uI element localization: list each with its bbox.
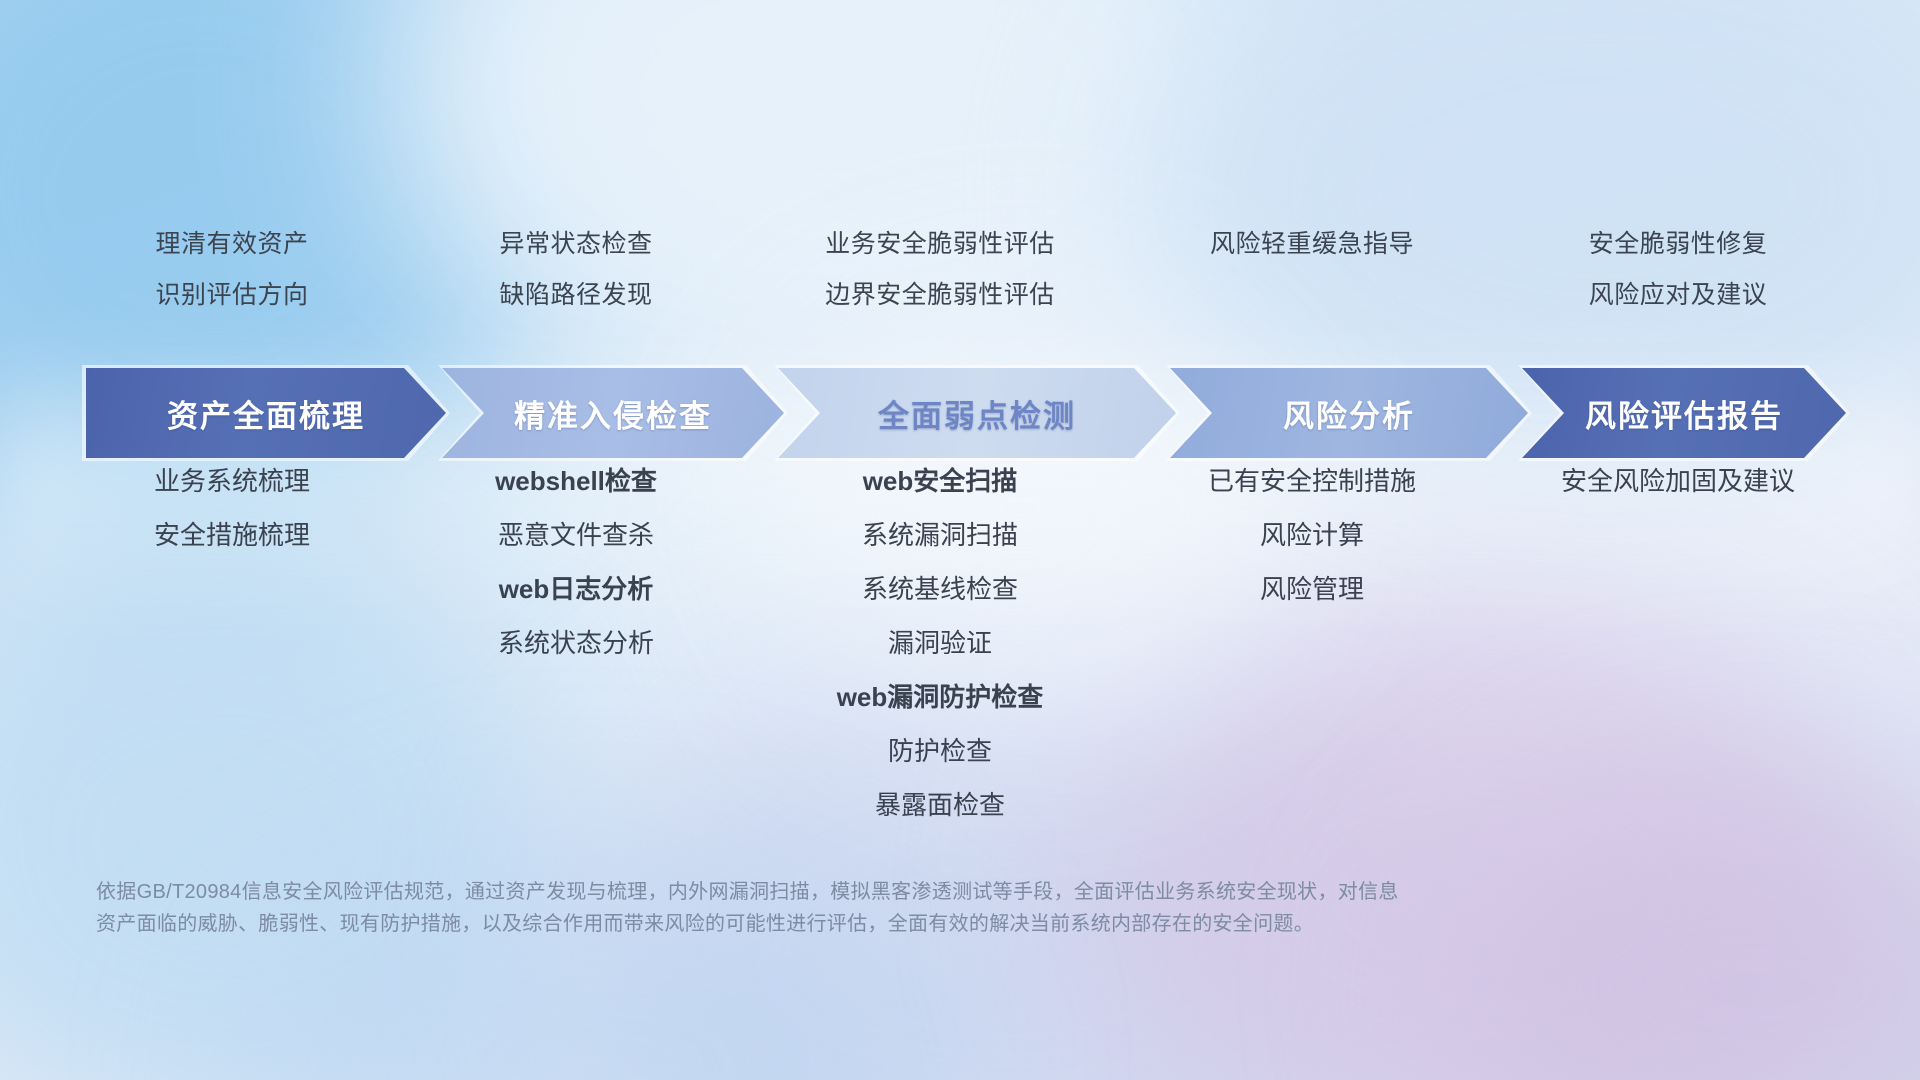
stage-arrow-label: 风险分析 xyxy=(1283,391,1415,436)
bottom-items-risk-analysis: 已有安全控制措施 风险计算 风险管理 xyxy=(1136,468,1488,602)
top-caption: 业务安全脆弱性评估 xyxy=(744,232,1136,257)
stage-arrow-asset-inventory[interactable]: 资产全面梳理 xyxy=(86,368,446,458)
stage-arrow-risk-analysis[interactable]: 风险分析 xyxy=(1170,368,1528,458)
bottom-items-asset-inventory: 业务系统梳理 安全措施梳理 xyxy=(56,468,408,548)
list-item: web日志分析 xyxy=(408,576,744,602)
top-caption: 缺陷路径发现 xyxy=(408,283,744,308)
top-caption: 边界安全脆弱性评估 xyxy=(744,283,1136,308)
stage-arrow-risk-report[interactable]: 风险评估报告 xyxy=(1522,368,1846,458)
footer-line: 资产面临的威胁、脆弱性、现有防护措施，以及综合作用而带来风险的可能性进行评估，全… xyxy=(96,908,1840,940)
top-captions-asset-inventory: 理清有效资产 识别评估方向 xyxy=(56,232,408,308)
top-caption: 异常状态检查 xyxy=(408,232,744,257)
list-item: 暴露面检查 xyxy=(744,792,1136,818)
top-captions-weakness-detection: 业务安全脆弱性评估 边界安全脆弱性评估 xyxy=(744,232,1136,308)
top-caption: 风险应对及建议 xyxy=(1488,283,1868,308)
list-item: 系统基线检查 xyxy=(744,576,1136,602)
stage-arrow-intrusion-check[interactable]: 精准入侵检查 xyxy=(442,368,784,458)
list-item: 恶意文件查杀 xyxy=(408,522,744,548)
list-item: 风险计算 xyxy=(1136,522,1488,548)
list-item: 系统状态分析 xyxy=(408,630,744,656)
list-item: 风险管理 xyxy=(1136,576,1488,602)
footer-line: 依据GB/T20984信息安全风险评估规范，通过资产发现与梳理，内外网漏洞扫描，… xyxy=(96,876,1840,908)
stage-arrow-label: 风险评估报告 xyxy=(1585,391,1783,436)
top-caption-row: 理清有效资产 识别评估方向 异常状态检查 缺陷路径发现 业务安全脆弱性评估 边界… xyxy=(0,232,1920,308)
list-item: 安全风险加固及建议 xyxy=(1488,468,1868,494)
list-item: 已有安全控制措施 xyxy=(1136,468,1488,494)
list-item: webshell检查 xyxy=(408,468,744,494)
list-item: 业务系统梳理 xyxy=(56,468,408,494)
process-diagram: 理清有效资产 识别评估方向 异常状态检查 缺陷路径发现 业务安全脆弱性评估 边界… xyxy=(0,0,1920,1080)
bottom-items-risk-report: 安全风险加固及建议 xyxy=(1488,468,1868,494)
top-caption: 理清有效资产 xyxy=(56,232,408,257)
footer-description: 依据GB/T20984信息安全风险评估规范，通过资产发现与梳理，内外网漏洞扫描，… xyxy=(96,876,1840,941)
stage-arrow-band: 资产全面梳理 精准入侵检查 全面弱点检测 风险分析 风险评估报告 xyxy=(86,368,1846,458)
top-captions-risk-report: 安全脆弱性修复 风险应对及建议 xyxy=(1488,232,1868,308)
list-item: web漏洞防护检查 xyxy=(744,684,1136,710)
top-captions-risk-analysis: 风险轻重缓急指导 xyxy=(1136,232,1488,308)
list-item: 安全措施梳理 xyxy=(56,522,408,548)
stage-arrow-weakness-detection[interactable]: 全面弱点检测 xyxy=(778,368,1176,458)
stage-arrow-label: 资产全面梳理 xyxy=(167,391,365,436)
list-item: 系统漏洞扫描 xyxy=(744,522,1136,548)
list-item: web安全扫描 xyxy=(744,468,1136,494)
bottom-items-weakness-detection: web安全扫描 系统漏洞扫描 系统基线检查 漏洞验证 web漏洞防护检查 防护检… xyxy=(744,468,1136,818)
stage-arrow-label: 精准入侵检查 xyxy=(514,391,712,436)
bottom-items-intrusion-check: webshell检查 恶意文件查杀 web日志分析 系统状态分析 xyxy=(408,468,744,656)
top-caption: 安全脆弱性修复 xyxy=(1488,232,1868,257)
top-caption: 风险轻重缓急指导 xyxy=(1136,232,1488,257)
bottom-item-row: 业务系统梳理 安全措施梳理 webshell检查 恶意文件查杀 web日志分析 … xyxy=(0,468,1920,818)
list-item: 防护检查 xyxy=(744,738,1136,764)
list-item: 漏洞验证 xyxy=(744,630,1136,656)
top-caption: 识别评估方向 xyxy=(56,283,408,308)
stage-arrow-label: 全面弱点检测 xyxy=(878,391,1076,436)
top-captions-intrusion-check: 异常状态检查 缺陷路径发现 xyxy=(408,232,744,308)
